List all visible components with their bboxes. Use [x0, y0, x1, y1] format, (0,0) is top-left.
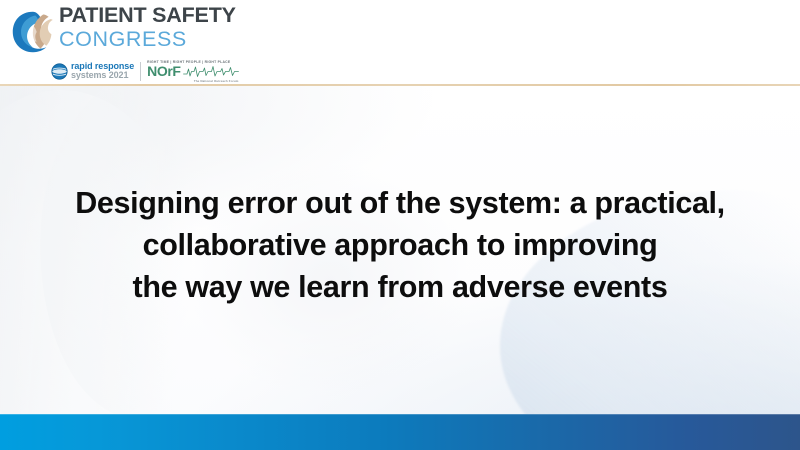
brand-line-congress: CONGRESS [59, 29, 236, 51]
rrs-line-2: systems 2021 [71, 71, 134, 80]
title-line-1: Designing error out of the system: a pra… [20, 183, 780, 225]
brand-primary-row: PATIENT SAFETY CONGRESS [10, 5, 236, 56]
title-area: Designing error out of the system: a pra… [0, 86, 800, 406]
slide-header: PATIENT SAFETY CONGRESS rapid response [0, 0, 800, 84]
header-divider [0, 84, 800, 86]
patient-safety-swirl-logo-icon [10, 8, 56, 56]
footer-gradient-bar [0, 414, 800, 450]
norf-main-row: NOrF [147, 64, 238, 78]
title-line-2: collaborative approach to improving [20, 225, 780, 267]
rrs-wordmark: rapid response systems 2021 [71, 62, 134, 80]
title-slide: PATIENT SAFETY CONGRESS rapid response [0, 0, 800, 450]
footer-bar-highlight [0, 414, 800, 415]
ecg-waveform-icon [183, 65, 239, 78]
partner-divider [140, 62, 141, 81]
norf-subtitle: The National Outreach Forum [147, 79, 238, 83]
page-title: Designing error out of the system: a pra… [20, 183, 780, 308]
partner-logo-strip: rapid response systems 2021 RIGHT TIME |… [51, 60, 239, 82]
partner-logo-rapid-response-systems: rapid response systems 2021 [51, 62, 134, 80]
rrs-globe-icon [51, 63, 68, 80]
norf-wordmark: NOrF [147, 64, 180, 78]
brand-lockup: PATIENT SAFETY CONGRESS rapid response [10, 5, 239, 82]
title-line-3: the way we learn from adverse events [20, 267, 780, 309]
partner-logo-norf: RIGHT TIME | RIGHT PEOPLE | RIGHT PLACE … [147, 60, 238, 83]
brand-line-patient-safety: PATIENT SAFETY [59, 5, 236, 27]
brand-wordmark: PATIENT SAFETY CONGRESS [59, 5, 236, 50]
